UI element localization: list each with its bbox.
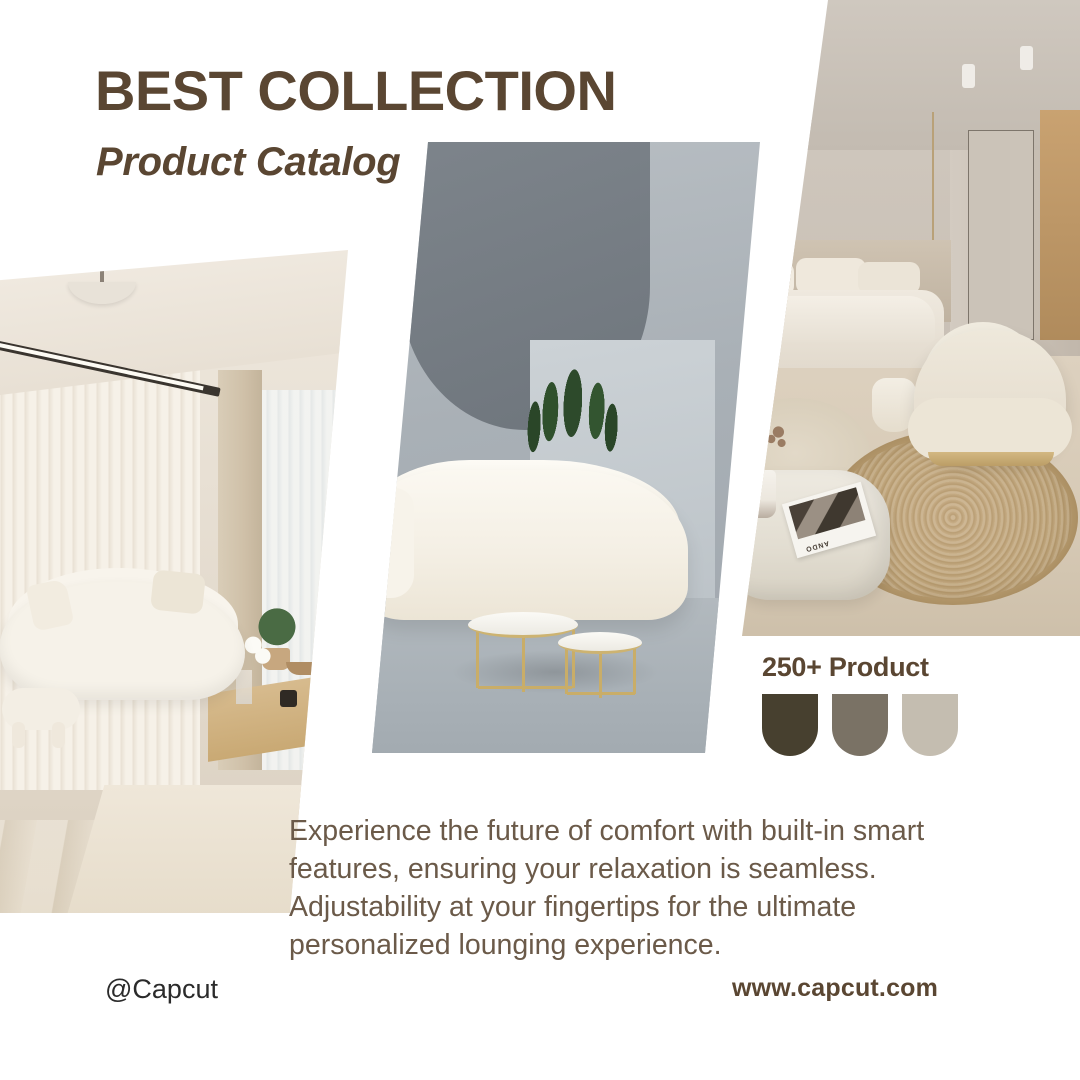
ceiling-spotlight [1020, 46, 1033, 70]
stool-leg [12, 722, 25, 748]
ceramic-vase [746, 470, 776, 518]
color-swatch-taupe[interactable] [832, 694, 888, 756]
marble-coffee-table [468, 612, 578, 638]
product-count-label: 250+ Product [762, 652, 958, 683]
stool-leg [52, 722, 65, 748]
marble-side-table [558, 632, 642, 654]
product-count-block: 250+ Product [762, 652, 958, 756]
studio-sofa-photo [300, 130, 760, 760]
armchair-brass-base [928, 452, 1054, 466]
duvet [720, 296, 935, 342]
pendant-rod [100, 258, 104, 284]
page-subtitle: Product Catalog [96, 140, 400, 184]
pillow [796, 258, 866, 294]
door [968, 130, 1034, 340]
table-stretcher [478, 686, 572, 689]
dried-stems [748, 426, 788, 476]
table-stretcher [567, 692, 635, 695]
sofa-armrest [356, 488, 414, 598]
cushion [150, 569, 206, 614]
table-leg [522, 630, 525, 692]
wood-wall-panel [1040, 110, 1080, 340]
social-handle: @Capcut [105, 974, 218, 1005]
bird-of-paradise-plant [514, 317, 632, 483]
bedroom-photo: ANDO [700, 0, 1080, 636]
color-swatch-group [762, 694, 958, 756]
ceiling-spotlight [962, 64, 975, 88]
website-url[interactable]: www.capcut.com [732, 974, 938, 1003]
table-leg [633, 646, 636, 694]
ottoman [318, 560, 370, 606]
poster-canvas: ANDO BEST COLLECTION Product Catalog 250… [0, 0, 1080, 1080]
table-leg [565, 646, 568, 694]
page-title: BEST COLLECTION [95, 62, 616, 121]
description-paragraph: Experience the future of comfort with bu… [289, 812, 959, 964]
table-leg [476, 630, 479, 688]
armchair-seat [908, 398, 1072, 460]
dark-cup [280, 690, 297, 707]
concrete-ceiling [700, 0, 1080, 150]
wood-bowl [286, 662, 326, 675]
color-swatch-light-beige[interactable] [902, 694, 958, 756]
color-swatch-dark-olive[interactable] [762, 694, 818, 756]
